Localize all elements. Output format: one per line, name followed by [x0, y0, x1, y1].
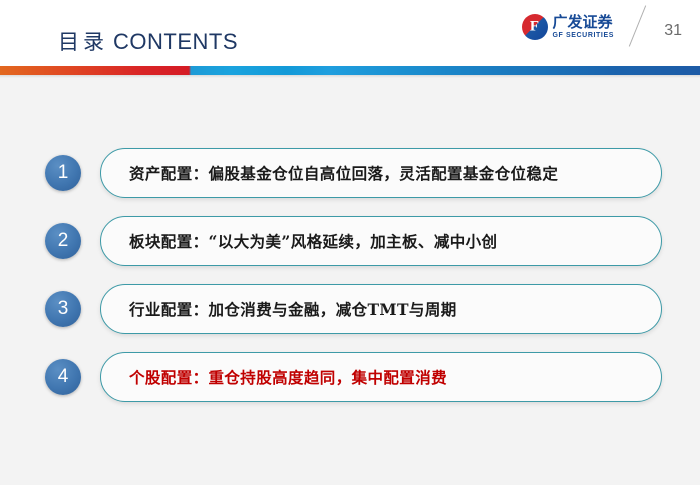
slash-divider-icon — [629, 5, 646, 46]
item-capsule[interactable]: 板块配置：“以大为美”风格延续，加主板、减中小创 — [100, 216, 662, 266]
brand-name-cn: 广发证券 — [553, 15, 614, 30]
page-number: 31 — [664, 22, 682, 40]
item-capsule[interactable]: 个股配置：重仓持股高度趋同，集中配置消费 — [100, 352, 662, 402]
brand-name-en: GF SECURITIES — [553, 32, 614, 39]
item-number-badge: 1 — [45, 155, 81, 191]
header-divider-shadow — [0, 75, 700, 78]
item-label: 个股配置：重仓持股高度趋同，集中配置消费 — [101, 366, 447, 388]
item-capsule[interactable]: 行业配置：加仓消费与金融，减仓TMT与周期 — [100, 284, 662, 334]
item-label: 板块配置：“以大为美”风格延续，加主板、减中小创 — [101, 230, 497, 252]
list-item[interactable]: 1 资产配置：偏股基金仓位自高位回落，灵活配置基金仓位稳定 — [0, 140, 700, 208]
header-divider-bar — [0, 66, 700, 75]
page-title: 目录CONTENTS — [58, 26, 238, 56]
contents-list: 1 资产配置：偏股基金仓位自高位回落，灵活配置基金仓位稳定 2 板块配置：“以大… — [0, 140, 700, 412]
list-item[interactable]: 3 行业配置：加仓消费与金融，减仓TMT与周期 — [0, 276, 700, 344]
item-number-badge: 2 — [45, 223, 81, 259]
page-title-en: CONTENTS — [113, 29, 238, 54]
slide-header: 目录CONTENTS 广发证券 GF SECURITIES 31 — [0, 0, 700, 66]
gf-logo-icon — [522, 14, 548, 40]
item-number-badge: 4 — [45, 359, 81, 395]
brand-logo: 广发证券 GF SECURITIES — [522, 14, 614, 40]
page-title-cn: 目录 — [58, 30, 108, 54]
item-number-badge: 3 — [45, 291, 81, 327]
item-capsule[interactable]: 资产配置：偏股基金仓位自高位回落，灵活配置基金仓位稳定 — [100, 148, 662, 198]
item-label: 行业配置：加仓消费与金融，减仓TMT与周期 — [101, 298, 457, 320]
slide-canvas: 目录CONTENTS 广发证券 GF SECURITIES 31 1 资产配置：… — [0, 0, 700, 485]
list-item[interactable]: 2 板块配置：“以大为美”风格延续，加主板、减中小创 — [0, 208, 700, 276]
brand-text: 广发证券 GF SECURITIES — [553, 15, 614, 39]
item-label: 资产配置：偏股基金仓位自高位回落，灵活配置基金仓位稳定 — [101, 162, 558, 184]
list-item[interactable]: 4 个股配置：重仓持股高度趋同，集中配置消费 — [0, 344, 700, 412]
